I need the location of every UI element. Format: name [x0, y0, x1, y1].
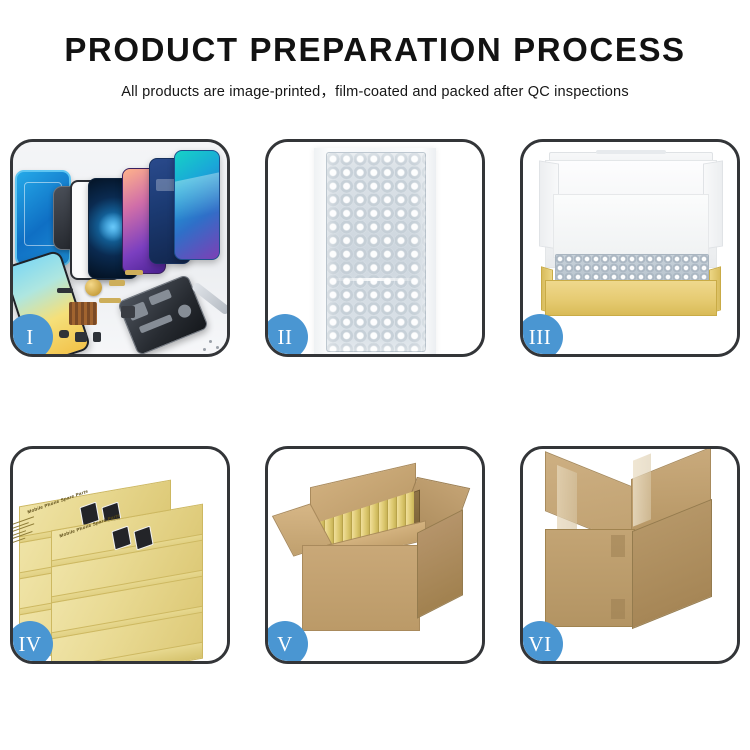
screw-icon-3: [203, 348, 206, 351]
step-panel-2[interactable]: II: [265, 139, 485, 357]
vibration-motor-icon: [85, 279, 102, 296]
page-title: PRODUCT PREPARATION PROCESS: [0, 33, 750, 68]
step-panel-6[interactable]: VI: [520, 446, 740, 664]
screw-icon-1: [209, 340, 212, 343]
camera-module-icon: [59, 330, 69, 338]
page-header: PRODUCT PREPARATION PROCESS All products…: [0, 0, 750, 101]
step-badge-3: III: [520, 314, 563, 357]
foam-sheet-icon: [553, 194, 709, 258]
small-connector-icon: [93, 332, 101, 342]
step-badge-6: VI: [520, 621, 563, 664]
speaker-chip-icon: [57, 288, 73, 293]
process-steps-grid: I II II: [0, 139, 750, 664]
flex-cable-icon-3: [99, 298, 121, 303]
carton-edge-mark-icon-1: [611, 535, 625, 557]
step-badge-4: IV: [10, 621, 53, 664]
step-badge-1: I: [10, 314, 53, 357]
step-panel-5[interactable]: V: [265, 446, 485, 664]
page-subtitle: All products are image-printed，film-coat…: [0, 80, 750, 101]
sealing-tape-icon-1: [557, 465, 577, 537]
carton-edge-mark-icon-2: [611, 599, 625, 619]
poly-bag-icon: [314, 148, 436, 354]
step-panel-4[interactable]: Mobile Phone Spare Parts Mobile: [10, 446, 230, 664]
step-panel-1[interactable]: I: [10, 139, 230, 357]
step-panel-3[interactable]: III: [520, 139, 740, 357]
bag-seam-icon: [328, 278, 422, 281]
antenna-flex-icon: [121, 306, 135, 318]
circuit-board-icon: [69, 302, 97, 325]
product-preparation-process-page: PRODUCT PREPARATION PROCESS All products…: [0, 0, 750, 750]
step-badge-2: II: [265, 314, 308, 357]
phone-teal-gradient-screen-icon: [174, 150, 220, 260]
step-badge-5: V: [265, 621, 308, 664]
flex-cable-icon-1: [109, 280, 125, 286]
screw-icon-2: [216, 346, 219, 349]
carton-front-face-icon: [302, 545, 420, 631]
flex-cable-icon-2: [125, 270, 143, 275]
mailer-front-panel-icon: [545, 280, 717, 316]
button-part-icon: [75, 332, 87, 342]
sealing-tape-icon-2: [633, 453, 651, 526]
bubble-wrap-icon: [326, 152, 426, 352]
